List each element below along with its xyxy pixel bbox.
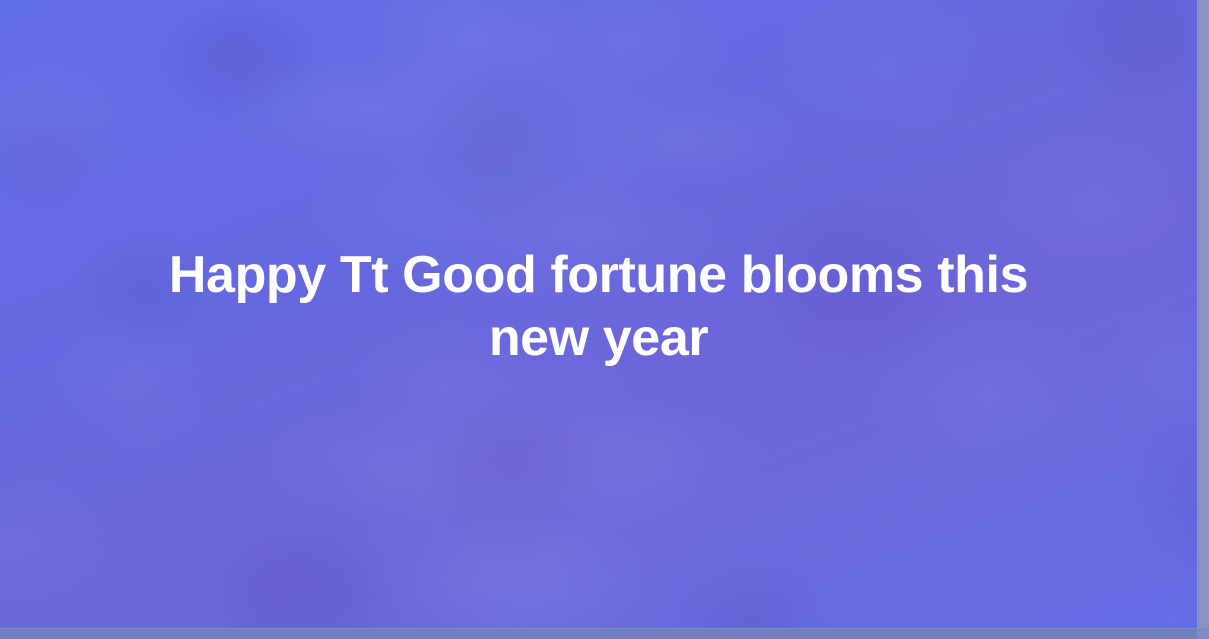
hero-headline: Happy Tt Good fortune blooms this new ye… [139,244,1059,371]
page-root: Happy Tt Good fortune blooms this new ye… [0,0,1209,639]
scroll-viewport: Happy Tt Good fortune blooms this new ye… [0,0,1197,628]
horizontal-scrollbar[interactable] [0,628,1209,639]
scrollbar-corner [1197,628,1209,639]
vertical-scrollbar-thumb[interactable] [1199,0,1209,628]
hero-section: Happy Tt Good fortune blooms this new ye… [0,0,1197,628]
vertical-scrollbar[interactable] [1197,0,1209,628]
hero-copy-block: Happy Tt Good fortune blooms this new ye… [0,0,1197,628]
horizontal-scrollbar-thumb[interactable] [0,630,1197,639]
